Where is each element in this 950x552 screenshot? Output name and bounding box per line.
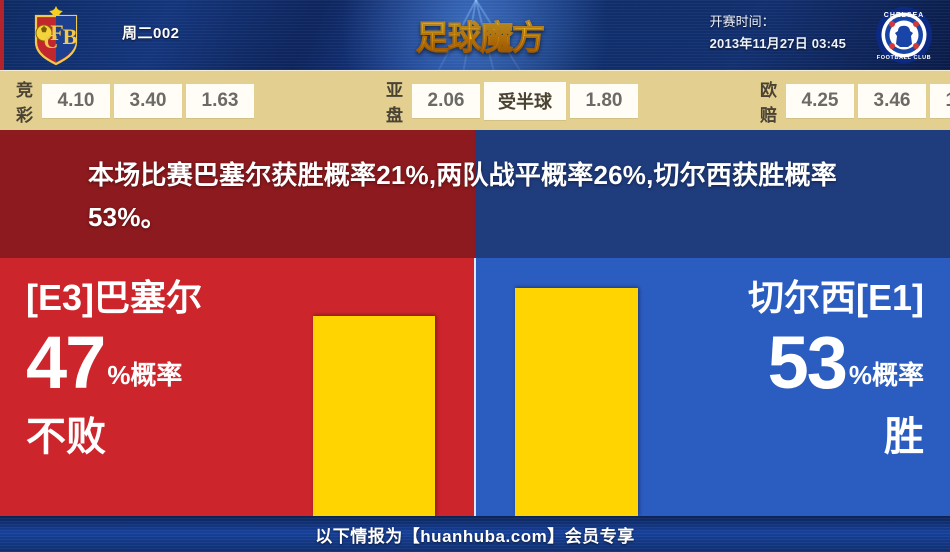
panel-divider (474, 258, 476, 516)
home-percent-row: 47 %概率 (26, 326, 202, 400)
site-logo-text: 足球魔方 (416, 11, 544, 59)
svg-text:C: C (44, 31, 58, 53)
summary-banner: 本场比赛巴塞尔获胜概率21%,两队战平概率26%,切尔西获胜概率53%。 (0, 130, 950, 258)
home-outcome-label: 不败 (26, 414, 202, 460)
footer-text: 以下情报为【huanhuba.com】会员专享 (315, 522, 634, 547)
home-team-name: [E3]巴塞尔 (26, 276, 202, 320)
header-bar: F B C 周二002 足球魔方 开赛时间： 2013年11月27日 03:45 (0, 0, 950, 70)
kickoff-label: 开赛时间： (710, 11, 846, 33)
left-red-edge (0, 0, 4, 70)
summary-text: 本场比赛巴塞尔获胜概率21%,两队战平概率26%,切尔西获胜概率53%。 (88, 154, 878, 238)
odds-cell[interactable]: 3.46 (858, 84, 926, 118)
basel-crest-icon: F B C (20, 4, 92, 66)
home-probability-bar (313, 316, 435, 516)
match-number: 周二002 (122, 22, 180, 43)
odds-cell[interactable]: 4.10 (42, 84, 110, 118)
away-team-name: 切尔西[E1] (748, 276, 924, 320)
home-percent-suffix: %概率 (107, 362, 182, 400)
away-percent-row: 53 %概率 (748, 326, 924, 400)
odds-group-jingcai: 竞彩 4.10 3.40 1.63 (16, 76, 258, 126)
odds-group-label: 竞彩 (16, 76, 34, 126)
odds-group-oupei: 欧赔 4.25 3.46 1.84 (760, 76, 950, 126)
kickoff-time: 开赛时间： 2013年11月27日 03:45 (710, 11, 846, 55)
site-logo: 足球魔方 (404, 8, 556, 62)
odds-group-label: 欧赔 (760, 76, 778, 126)
infographic-root: F B C 周二002 足球魔方 开赛时间： 2013年11月27日 03:45 (0, 0, 950, 552)
away-percent-value: 53 (768, 326, 846, 400)
home-percent-value: 47 (26, 326, 104, 400)
away-outcome-label: 胜 (748, 414, 924, 460)
odds-cell[interactable]: 1.84 (930, 84, 950, 118)
odds-cell-handicap[interactable]: 受半球 (484, 82, 566, 120)
odds-cell[interactable]: 3.40 (114, 84, 182, 118)
footer-bar: 以下情报为【huanhuba.com】会员专享 (0, 516, 950, 552)
chelsea-crest-icon: CHELSEA FOOTBALL CLUB (872, 4, 936, 66)
away-team-block: 切尔西[E1] 53 %概率 胜 (748, 276, 924, 460)
odds-cell[interactable]: 2.06 (412, 84, 480, 118)
away-percent-suffix: %概率 (849, 362, 924, 400)
away-probability-bar (515, 288, 638, 516)
svg-text:CHELSEA: CHELSEA (884, 12, 924, 19)
odds-cell[interactable]: 4.25 (786, 84, 854, 118)
odds-bar: 竞彩 4.10 3.40 1.63 亚盘 2.06 受半球 1.80 欧赔 4.… (0, 70, 950, 131)
kickoff-value: 2013年11月27日 03:45 (710, 33, 846, 55)
home-team-block: [E3]巴塞尔 47 %概率 不败 (26, 276, 202, 460)
svg-text:B: B (63, 24, 78, 49)
probability-chart: [E3]巴塞尔 47 %概率 不败 切尔西[E1] 53 %概率 胜 (0, 258, 950, 516)
odds-cell[interactable]: 1.63 (186, 84, 254, 118)
odds-group-yapan: 亚盘 2.06 受半球 1.80 (386, 76, 642, 126)
odds-cell[interactable]: 1.80 (570, 84, 638, 118)
odds-group-label: 亚盘 (386, 76, 404, 126)
svg-text:FOOTBALL CLUB: FOOTBALL CLUB (877, 55, 931, 61)
